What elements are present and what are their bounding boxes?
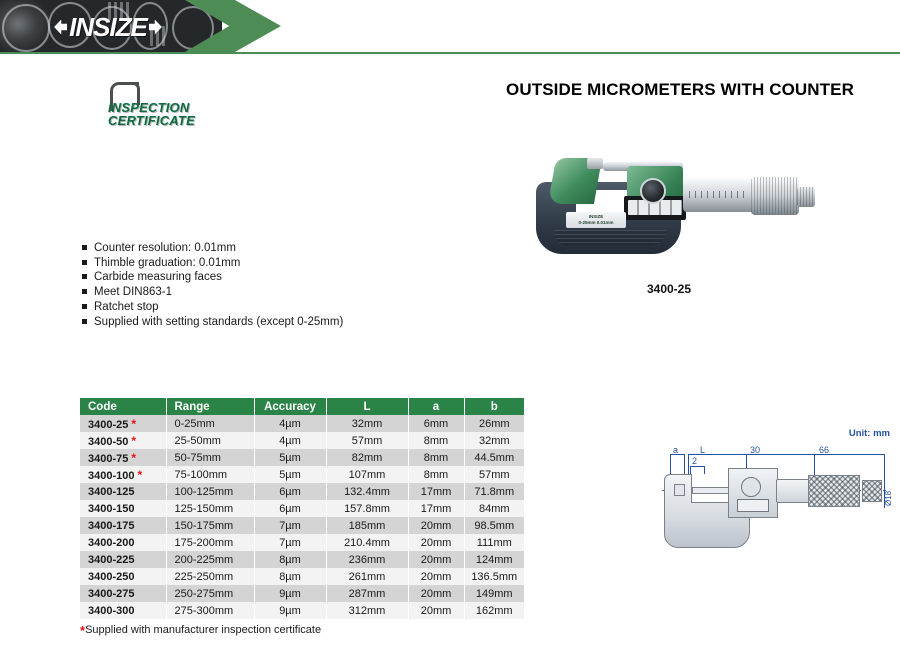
table-row: 3400-100*75-100mm5µm107mm8mm57mm (80, 466, 524, 483)
cell-accuracy: 6µm (254, 500, 326, 517)
drawing-sleeve (776, 479, 810, 503)
cell-b: 32mm (464, 432, 524, 449)
cell-range: 25-50mm (166, 432, 254, 449)
cell-a: 20mm (408, 534, 464, 551)
table-row: 3400-75*50-75mm5µm82mm8mm44.5mm (80, 449, 524, 466)
bullet-square-icon (82, 304, 87, 309)
product-photo-micrometer: INSIZE 0-25mm 0.01mm (524, 140, 814, 270)
feature-text: Meet DIN863-1 (94, 285, 172, 299)
cell-l: 157.8mm (326, 500, 408, 517)
cell-l: 287mm (326, 585, 408, 602)
cell-a: 8mm (408, 449, 464, 466)
column-header-b: b (464, 398, 524, 415)
cell-range: 150-175mm (166, 517, 254, 534)
table-row: 3400-175150-175mm7µm185mm20mm98.5mm (80, 517, 524, 534)
cell-accuracy: 8µm (254, 551, 326, 568)
header-divider-rule (0, 52, 900, 54)
micrometer-sleeve (683, 178, 755, 212)
insize-logo: INSIZE (28, 12, 188, 42)
cell-accuracy: 7µm (254, 534, 326, 551)
drawing-micrometer-profile (662, 456, 898, 548)
cell-a: 6mm (408, 415, 464, 432)
drawing-counter-window (737, 499, 769, 512)
micrometer-thimble (751, 177, 799, 215)
drawing-dial (741, 477, 761, 497)
cell-l: 57mm (326, 432, 408, 449)
cell-a: 8mm (408, 466, 464, 483)
bullet-square-icon (82, 319, 87, 324)
certificate-line-2: CERTIFICATE (108, 113, 195, 128)
bullet-square-icon (82, 274, 87, 279)
cell-range: 175-200mm (166, 534, 254, 551)
cell-a: 20mm (408, 517, 464, 534)
cell-range: 250-275mm (166, 585, 254, 602)
table-row: 3400-300275-300mm9µm312mm20mm162mm (80, 602, 524, 619)
cell-b: 44.5mm (464, 449, 524, 466)
cell-b: 26mm (464, 415, 524, 432)
bullet-square-icon (82, 289, 87, 294)
cell-l: 82mm (326, 449, 408, 466)
product-label-spec: 0-25mm 0.01mm (578, 220, 613, 226)
product-caption: 3400-25 (524, 282, 814, 296)
column-header-code: Code (80, 398, 166, 415)
cell-range: 0-25mm (166, 415, 254, 432)
table-row: 3400-150125-150mm6µm157.8mm17mm84mm (80, 500, 524, 517)
drawing-counter-head (728, 468, 778, 518)
feature-text: Carbide measuring faces (94, 270, 222, 284)
cell-accuracy: 4µm (254, 415, 326, 432)
table-footnote: *Supplied with manufacturer inspection c… (80, 624, 321, 637)
specification-table: Code Range Accuracy L a b 3400-25*0-25mm… (80, 398, 524, 619)
cell-code: 3400-250 (80, 568, 166, 585)
table-row: 3400-250225-250mm8µm261mm20mm136.5mm (80, 568, 524, 585)
feature-item: Thimble graduation: 0.01mm (82, 256, 412, 270)
column-header-a: a (408, 398, 464, 415)
micrometer-ratchet-stop (797, 187, 815, 207)
table-row: 3400-125100-125mm6µm132.4mm17mm71.8mm (80, 483, 524, 500)
cell-a: 8mm (408, 432, 464, 449)
page-title: OUTSIDE MICROMETERS WITH COUNTER (480, 80, 880, 100)
cell-accuracy: 5µm (254, 449, 326, 466)
drawing-spindle (692, 487, 730, 494)
cell-b: 136.5mm (464, 568, 524, 585)
cell-l: 185mm (326, 517, 408, 534)
cell-l: 107mm (326, 466, 408, 483)
sleeve-scale-marks (689, 191, 747, 198)
cell-code: 3400-300 (80, 602, 166, 619)
asterisk-icon: * (131, 417, 136, 431)
cell-code: 3400-150 (80, 500, 166, 517)
cell-range: 125-150mm (166, 500, 254, 517)
asterisk-icon: * (131, 434, 136, 448)
cell-code: 3400-175 (80, 517, 166, 534)
feature-text: Supplied with setting standards (except … (94, 315, 343, 329)
feature-item: Counter resolution: 0.01mm (82, 241, 412, 255)
cell-a: 17mm (408, 500, 464, 517)
feature-item: Supplied with setting standards (except … (82, 315, 412, 329)
feature-item: Meet DIN863-1 (82, 285, 412, 299)
drawing-anvil (674, 484, 685, 496)
cell-code: 3400-100* (80, 466, 166, 483)
micrometer-frame-ridges (554, 230, 666, 246)
logo-right-arrow-icon (149, 20, 162, 35)
cell-l: 32mm (326, 415, 408, 432)
drawing-unit-label: Unit: mm (849, 428, 890, 439)
micrometer-anvil (587, 158, 603, 169)
cell-b: 57mm (464, 466, 524, 483)
column-header-l: L (326, 398, 408, 415)
cell-b: 71.8mm (464, 483, 524, 500)
cell-code: 3400-125 (80, 483, 166, 500)
feature-text: Ratchet stop (94, 300, 159, 314)
cell-accuracy: 4µm (254, 432, 326, 449)
cell-range: 50-75mm (166, 449, 254, 466)
cell-a: 17mm (408, 483, 464, 500)
cell-a: 20mm (408, 551, 464, 568)
cell-range: 225-250mm (166, 568, 254, 585)
cell-l: 312mm (326, 602, 408, 619)
cell-b: 98.5mm (464, 517, 524, 534)
drawing-thimble (808, 475, 860, 507)
cell-a: 20mm (408, 568, 464, 585)
cell-accuracy: 9µm (254, 602, 326, 619)
cell-a: 20mm (408, 602, 464, 619)
cell-b: 149mm (464, 585, 524, 602)
cell-code: 3400-200 (80, 534, 166, 551)
column-header-range: Range (166, 398, 254, 415)
page-header: INSIZE (0, 0, 900, 55)
cell-range: 200-225mm (166, 551, 254, 568)
table-row: 3400-200175-200mm7µm210.4mm20mm111mm (80, 534, 524, 551)
bullet-square-icon (82, 260, 87, 265)
drawing-ratchet (862, 480, 882, 502)
feature-list: Counter resolution: 0.01mm Thimble gradu… (82, 241, 412, 329)
cell-range: 100-125mm (166, 483, 254, 500)
cell-b: 162mm (464, 602, 524, 619)
cell-b: 124mm (464, 551, 524, 568)
cell-b: 111mm (464, 534, 524, 551)
cell-accuracy: 6µm (254, 483, 326, 500)
asterisk-icon: * (131, 451, 136, 465)
column-header-accuracy: Accuracy (254, 398, 326, 415)
logo-left-arrow-icon (54, 20, 67, 35)
cell-l: 261mm (326, 568, 408, 585)
cell-code: 3400-25* (80, 415, 166, 432)
cell-range: 75-100mm (166, 466, 254, 483)
bullet-square-icon (82, 245, 87, 250)
cell-b: 84mm (464, 500, 524, 517)
micrometer-dial (640, 178, 666, 204)
cell-range: 275-300mm (166, 602, 254, 619)
technical-drawing: Unit: mm a L 2 30 66 Ø6.5 b Ø18 (662, 428, 898, 548)
logo-text: INSIZE (69, 12, 147, 43)
cell-code: 3400-75* (80, 449, 166, 466)
feature-text: Counter resolution: 0.01mm (94, 241, 236, 255)
inspection-certificate-badge: INSPECTION CERTIFICATE (108, 82, 228, 130)
cell-l: 132.4mm (326, 483, 408, 500)
footnote-text: Supplied with manufacturer inspection ce… (85, 624, 321, 636)
cell-accuracy: 5µm (254, 466, 326, 483)
table-row: 3400-25*0-25mm4µm32mm6mm26mm (80, 415, 524, 432)
cell-accuracy: 9µm (254, 585, 326, 602)
cell-code: 3400-50* (80, 432, 166, 449)
table-row: 3400-275250-275mm9µm287mm20mm149mm (80, 585, 524, 602)
cell-a: 20mm (408, 585, 464, 602)
feature-text: Thimble graduation: 0.01mm (94, 256, 240, 270)
table-row: 3400-50*25-50mm4µm57mm8mm32mm (80, 432, 524, 449)
cell-accuracy: 8µm (254, 568, 326, 585)
cell-l: 210.4mm (326, 534, 408, 551)
cell-code: 3400-225 (80, 551, 166, 568)
asterisk-icon: * (138, 468, 143, 482)
cell-accuracy: 7µm (254, 517, 326, 534)
table-row: 3400-225200-225mm8µm236mm20mm124mm (80, 551, 524, 568)
feature-item: Carbide measuring faces (82, 270, 412, 284)
feature-item: Ratchet stop (82, 300, 412, 314)
micrometer-brand-label: INSIZE 0-25mm 0.01mm (566, 212, 626, 228)
cell-l: 236mm (326, 551, 408, 568)
cell-code: 3400-275 (80, 585, 166, 602)
table-header-row: Code Range Accuracy L a b (80, 398, 524, 415)
